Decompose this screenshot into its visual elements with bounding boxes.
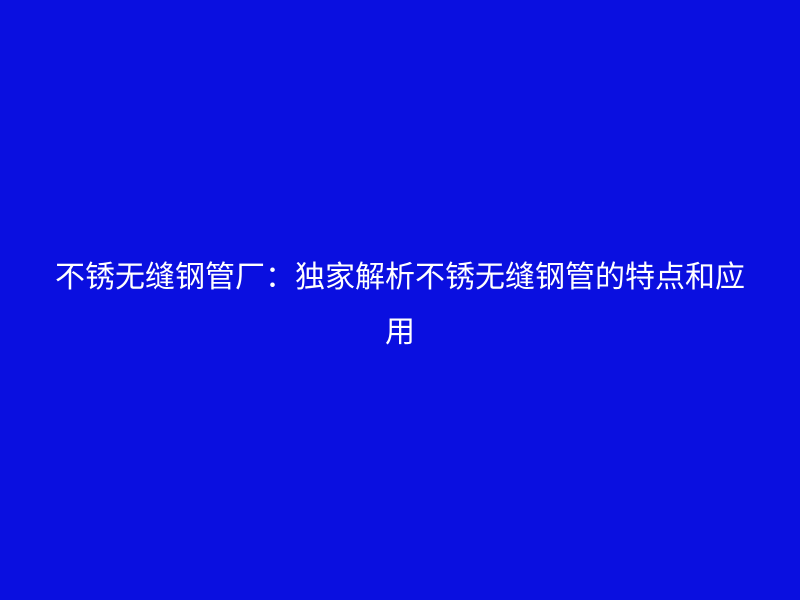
slide-canvas: 不锈无缝钢管厂：独家解析不锈无缝钢管的特点和应用 xyxy=(0,0,800,600)
slide-title: 不锈无缝钢管厂：独家解析不锈无缝钢管的特点和应用 xyxy=(55,250,745,360)
title-block: 不锈无缝钢管厂：独家解析不锈无缝钢管的特点和应用 xyxy=(55,250,745,360)
